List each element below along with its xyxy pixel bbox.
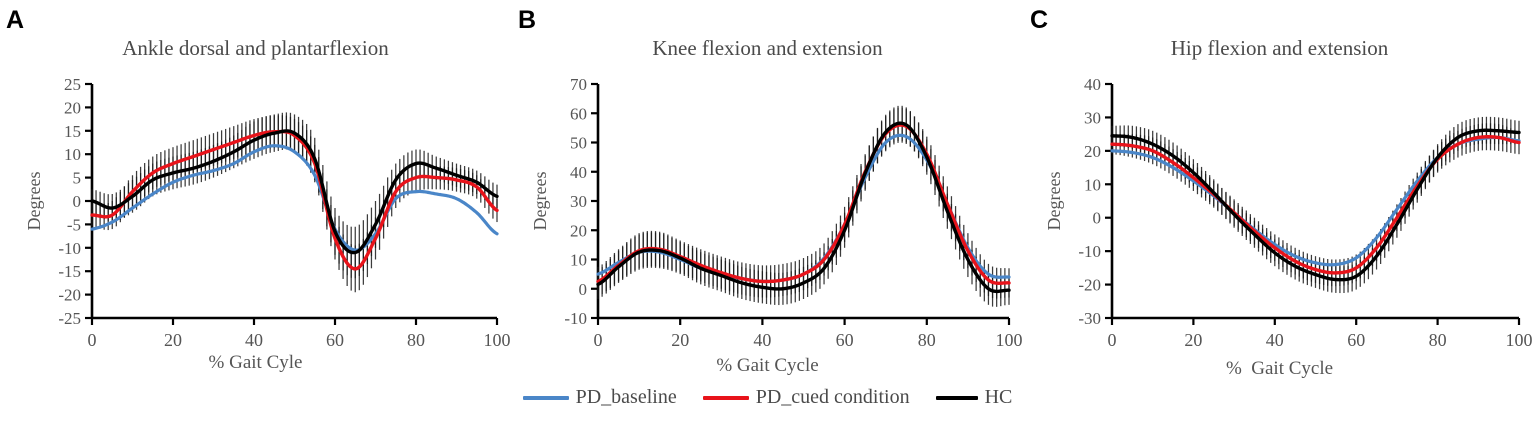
y-tick-label: 20 bbox=[1084, 142, 1101, 161]
y-tick-label: 0 bbox=[1093, 209, 1102, 228]
y-tick-label: 70 bbox=[570, 75, 587, 94]
panel-letter-a: A bbox=[6, 8, 24, 33]
chart-legend: PD_baseline PD_cued condition HC bbox=[0, 386, 1535, 409]
chart-svg-b: 706050403020100-10020406080100Degrees bbox=[512, 66, 1023, 366]
legend-swatch-pd-baseline bbox=[523, 396, 569, 400]
y-tick-label: 5 bbox=[73, 169, 82, 188]
panel-title-a: Ankle dorsal and plantarflexion bbox=[0, 36, 511, 61]
y-tick-label: 30 bbox=[1084, 108, 1101, 127]
y-tick-label: -15 bbox=[58, 262, 81, 281]
y-tick-label: -20 bbox=[58, 286, 81, 305]
x-tick-label: 0 bbox=[1108, 330, 1117, 350]
y-tick-label: 10 bbox=[64, 145, 81, 164]
x-tick-label: 80 bbox=[1429, 330, 1447, 350]
x-tick-label: 0 bbox=[88, 330, 97, 350]
x-tick-label: 80 bbox=[407, 330, 425, 350]
y-tick-label: -10 bbox=[1078, 242, 1101, 261]
y-tick-label: 10 bbox=[1084, 175, 1101, 194]
y-tick-label: 10 bbox=[570, 251, 587, 270]
chart-svg-c: 403020100-10-20-30020406080100Degrees bbox=[1024, 66, 1535, 366]
x-tick-label: 20 bbox=[1184, 330, 1202, 350]
panel-a: A Ankle dorsal and plantarflexion 252015… bbox=[0, 0, 511, 423]
x-tick-label: 100 bbox=[484, 330, 511, 350]
y-axis-title: Degrees bbox=[24, 172, 44, 231]
legend-item-pd-cued: PD_cued condition bbox=[703, 386, 910, 409]
legend-swatch-pd-cued bbox=[703, 396, 749, 400]
x-tick-label: 40 bbox=[245, 330, 263, 350]
y-tick-label: 0 bbox=[73, 192, 82, 211]
y-tick-label: 20 bbox=[64, 98, 81, 117]
y-axis-title: Degrees bbox=[1044, 172, 1064, 231]
panel-b: B Knee flexion and extension 70605040302… bbox=[512, 0, 1023, 423]
y-tick-label: 0 bbox=[579, 280, 588, 299]
legend-swatch-hc bbox=[936, 396, 978, 400]
y-tick-label: -20 bbox=[1078, 276, 1101, 295]
y-tick-label: -10 bbox=[58, 239, 81, 258]
y-tick-label: 50 bbox=[570, 134, 587, 153]
chart-svg-a: 2520151050-5-10-15-20-25020406080100Degr… bbox=[0, 66, 511, 366]
x-tick-label: 60 bbox=[836, 330, 854, 350]
plot-area-c: 403020100-10-20-30020406080100Degrees bbox=[1024, 66, 1535, 366]
x-tick-label: 60 bbox=[326, 330, 344, 350]
y-tick-label: 15 bbox=[64, 122, 81, 141]
x-tick-label: 80 bbox=[918, 330, 936, 350]
panel-title-b: Knee flexion and extension bbox=[512, 36, 1023, 61]
y-tick-label: -30 bbox=[1078, 309, 1101, 328]
x-tick-label: 40 bbox=[753, 330, 771, 350]
y-tick-label: 25 bbox=[64, 75, 81, 94]
x-tick-label: 100 bbox=[996, 330, 1023, 350]
panel-letter-b: B bbox=[518, 8, 536, 33]
panel-c: C Hip flexion and extension 403020100-10… bbox=[1024, 0, 1535, 423]
x-tick-label: 100 bbox=[1506, 330, 1533, 350]
x-tick-label: 20 bbox=[671, 330, 689, 350]
error-bars bbox=[92, 112, 497, 292]
x-axis-title-c: % Gait Cycle bbox=[1024, 358, 1535, 380]
x-axis-title-b: % Gait Cycle bbox=[512, 355, 1023, 377]
legend-item-hc: HC bbox=[936, 386, 1013, 409]
plot-area-a: 2520151050-5-10-15-20-25020406080100Degr… bbox=[0, 66, 511, 366]
legend-label-pd-baseline: PD_baseline bbox=[576, 386, 677, 409]
x-axis-title-a: % Gait Cyle bbox=[0, 352, 511, 374]
gait-kinematics-figure: A Ankle dorsal and plantarflexion 252015… bbox=[0, 0, 1535, 423]
y-tick-label: -5 bbox=[67, 215, 81, 234]
y-tick-label: 30 bbox=[570, 192, 587, 211]
legend-label-hc: HC bbox=[985, 386, 1013, 409]
x-tick-label: 20 bbox=[164, 330, 182, 350]
y-tick-label: -10 bbox=[564, 309, 587, 328]
x-tick-label: 60 bbox=[1347, 330, 1365, 350]
legend-item-pd-baseline: PD_baseline bbox=[523, 386, 677, 409]
y-tick-label: 40 bbox=[1084, 75, 1101, 94]
panel-letter-c: C bbox=[1030, 8, 1048, 33]
x-tick-label: 40 bbox=[1266, 330, 1284, 350]
panel-title-c: Hip flexion and extension bbox=[1024, 36, 1535, 61]
x-tick-label: 0 bbox=[594, 330, 603, 350]
y-tick-label: 40 bbox=[570, 163, 587, 182]
plot-area-b: 706050403020100-10020406080100Degrees bbox=[512, 66, 1023, 366]
y-tick-label: 20 bbox=[570, 221, 587, 240]
y-tick-label: -25 bbox=[58, 309, 81, 328]
y-tick-label: 60 bbox=[570, 104, 587, 123]
legend-label-pd-cued: PD_cued condition bbox=[756, 386, 910, 409]
y-axis-title: Degrees bbox=[530, 172, 550, 231]
